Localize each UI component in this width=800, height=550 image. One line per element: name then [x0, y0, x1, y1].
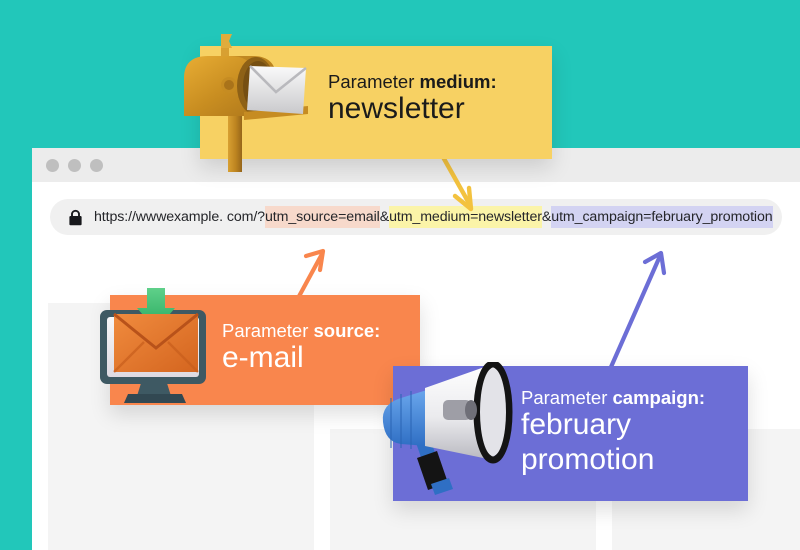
callout-source-kicker-prefix: Parameter [222, 320, 314, 341]
url-text[interactable]: https://wwwexample. com/?utm_source=emai… [94, 199, 773, 235]
window-control-maximize-dot[interactable] [90, 159, 103, 172]
monitor-envelope-icon [92, 288, 220, 412]
callout-medium-text: Parameter medium: newsletter [328, 72, 497, 126]
url-param-source: utm_source=email [265, 206, 380, 228]
callout-campaign-value-line1: february [521, 408, 705, 443]
url-param-campaign: utm_campaign=february_promotion [551, 206, 772, 228]
callout-source-kicker-key: source: [314, 320, 381, 341]
callout-campaign-value-line2: promotion [521, 443, 705, 478]
callout-medium-kicker-prefix: Parameter [328, 71, 420, 92]
callout-source-text: Parameter source: e-mail [222, 321, 380, 375]
callout-campaign-kicker: Parameter campaign: [521, 388, 705, 408]
callout-medium-kicker: Parameter medium: [328, 72, 497, 92]
callout-source-kicker: Parameter source: [222, 321, 380, 341]
callout-campaign-kicker-prefix: Parameter [521, 387, 613, 408]
megaphone-icon [381, 362, 529, 498]
callout-source-value: e-mail [222, 341, 380, 375]
callout-medium-kicker-key: medium: [420, 71, 497, 92]
callout-medium-value: newsletter [328, 92, 497, 126]
url-base: https://wwwexample. com/? [94, 206, 265, 228]
callout-campaign-text: Parameter campaign: february promotion [521, 388, 705, 477]
window-control-close-dot[interactable] [46, 159, 59, 172]
window-control-minimize-dot[interactable] [68, 159, 81, 172]
address-bar[interactable]: https://wwwexample. com/?utm_source=emai… [50, 199, 782, 235]
callout-campaign-kicker-key: campaign: [613, 387, 706, 408]
lock-icon [68, 209, 83, 226]
mailbox-icon [172, 26, 318, 172]
infographic-stage: https://wwwexample. com/?utm_source=emai… [0, 0, 800, 550]
url-param-medium: utm_medium=newsletter [389, 206, 542, 228]
window-controls[interactable] [46, 159, 103, 172]
url-amp-1: & [380, 206, 389, 228]
url-amp-2: & [542, 206, 551, 228]
